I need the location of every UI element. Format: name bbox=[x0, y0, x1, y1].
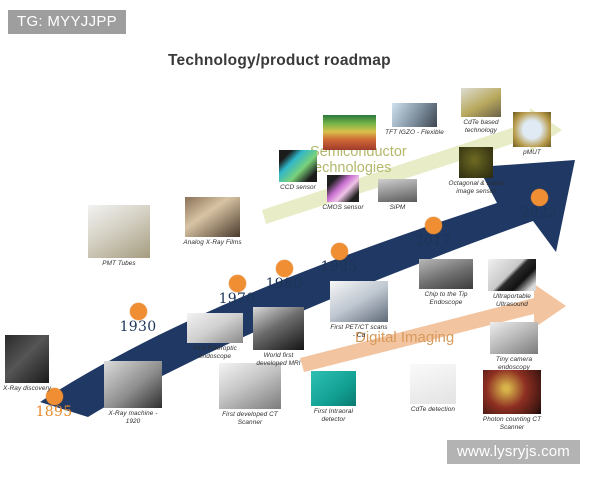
sipm-caption: SiPM bbox=[368, 204, 428, 212]
year-label: 1995 bbox=[311, 259, 367, 275]
year-dot-icon bbox=[531, 189, 548, 206]
watermark: www.lysryjs.com bbox=[447, 440, 580, 464]
year-label: 1895 bbox=[26, 404, 82, 420]
roadmap-item-chip-to-the-tip-endoscope: Chip to the Tip Endoscope bbox=[419, 259, 473, 307]
ultraportable-ultrasound-caption: Ultraportable Ultrasound bbox=[482, 293, 542, 309]
ccd-sensor-caption: CCD sensor bbox=[268, 184, 328, 192]
pmt-tubes-photo bbox=[88, 205, 150, 258]
first-intraoral-detector-photo bbox=[311, 371, 356, 406]
cdte-detection-photo bbox=[410, 364, 456, 404]
x-ray-discovery-caption: X-Ray discovery bbox=[0, 385, 57, 393]
roadmap-item-cdte-based-technology: CdTe based technology bbox=[461, 88, 501, 135]
analog-x-ray-films-photo bbox=[185, 197, 240, 237]
roadmap-item-x-ray-discovery: X-Ray discovery bbox=[5, 335, 49, 393]
world-first-developed-mri-photo bbox=[253, 307, 304, 350]
cmos-sensor-photo bbox=[327, 175, 359, 202]
pmt-tubes-caption: PMT Tubes bbox=[88, 260, 150, 268]
pmut-photo bbox=[513, 112, 551, 147]
tft-igzo-flexible-photo bbox=[392, 103, 437, 127]
first-developed-ct-scanner-photo bbox=[219, 363, 281, 409]
first-intraoral-detector-caption: First Intraoral detector bbox=[304, 408, 364, 424]
ccd-sensor-photo bbox=[279, 150, 317, 182]
analog-x-ray-films-caption: Analog X-Ray Films bbox=[183, 239, 243, 247]
roadmap-item-ccd-sensor: CCD sensor bbox=[279, 150, 317, 192]
cmos-sensor-caption: CMOS sensor bbox=[313, 204, 373, 212]
world-first-developed-mri-caption: World first developed MRI bbox=[249, 352, 309, 368]
roadmap-item-tiny-camera-endoscopy: Tiny camera endoscopy bbox=[490, 322, 538, 372]
ultraportable-ultrasound-photo bbox=[488, 259, 536, 291]
year-marker-1980: 1980 bbox=[256, 260, 312, 292]
roadmap-item-first-fiberoptic-endoscope: First Fiberoptic endoscope bbox=[187, 313, 243, 361]
year-marker-1930: 1930 bbox=[110, 303, 166, 335]
roadmap-item-multilayer-stack bbox=[323, 115, 376, 150]
roadmap-item-x-ray-machine-1920: X-Ray machine - 1920 bbox=[104, 361, 162, 426]
roadmap-item-analog-x-ray-films: Analog X-Ray Films bbox=[185, 197, 240, 247]
pmut-caption: pMUT bbox=[502, 149, 562, 157]
roadmap-item-pmt-tubes: PMT Tubes bbox=[88, 205, 150, 268]
x-ray-machine-1920-caption: X-Ray machine - 1920 bbox=[103, 410, 163, 426]
roadmap-item-ultraportable-ultrasound: Ultraportable Ultrasound bbox=[488, 259, 536, 309]
first-fiberoptic-endoscope-photo bbox=[187, 313, 243, 343]
roadmap-item-first-intraoral-detector: First Intraoral detector bbox=[311, 371, 356, 424]
roadmap-item-sipm: SiPM bbox=[378, 179, 417, 212]
roadmap-item-first-petct-scans-cd: First PET/CT scans - Cd bbox=[330, 281, 388, 340]
roadmap-item-octagonal-round-image-sensor: Octagonal & round image sensor bbox=[459, 147, 493, 196]
tiny-camera-endoscopy-photo bbox=[490, 322, 538, 354]
tg-tag: TG: MYYJJPP bbox=[8, 10, 126, 34]
year-dot-icon bbox=[229, 275, 246, 292]
cdte-based-technology-caption: CdTe based technology bbox=[451, 119, 511, 135]
multilayer-stack-photo bbox=[323, 115, 376, 150]
roadmap-item-cdte-detection: CdTe detection bbox=[410, 364, 456, 414]
octagonal-round-image-sensor-photo bbox=[459, 147, 493, 178]
photon-counting-ct-scanner-caption: Photon counting CT Scanner bbox=[482, 416, 542, 432]
octagonal-round-image-sensor-caption: Octagonal & round image sensor bbox=[446, 180, 506, 196]
roadmap-item-world-first-developed-mri: World first developed MRI bbox=[253, 307, 304, 368]
chip-to-the-tip-endoscope-caption: Chip to the Tip Endoscope bbox=[416, 291, 476, 307]
x-ray-discovery-photo bbox=[5, 335, 49, 383]
year-label: 1980 bbox=[256, 276, 312, 292]
year-dot-icon bbox=[130, 303, 147, 320]
roadmap-item-pmut: pMUT bbox=[513, 112, 551, 157]
year-label: 2017 bbox=[405, 233, 461, 249]
first-petct-scans-cd-photo bbox=[330, 281, 388, 322]
cdte-based-technology-photo bbox=[461, 88, 501, 117]
first-fiberoptic-endoscope-caption: First Fiberoptic endoscope bbox=[185, 345, 245, 361]
year-label: 1930 bbox=[110, 319, 166, 335]
year-dot-icon bbox=[276, 260, 293, 277]
first-petct-scans-cd-caption: First PET/CT scans - Cd bbox=[329, 324, 389, 340]
year-marker-2022: 2022 bbox=[511, 189, 567, 221]
roadmap-item-tft-igzo-flexible: TFT IGZO - Flexible bbox=[392, 103, 437, 137]
roadmap-canvas: Technology/product roadmap Semiconductor… bbox=[0, 0, 600, 480]
year-dot-icon bbox=[425, 217, 442, 234]
year-dot-icon bbox=[331, 243, 348, 260]
year-marker-1995: 1995 bbox=[311, 243, 367, 275]
semiconductor-label-line2: technologies bbox=[310, 160, 391, 176]
cdte-detection-caption: CdTe detection bbox=[403, 406, 463, 414]
roadmap-item-cmos-sensor: CMOS sensor bbox=[327, 175, 359, 212]
page-title: Technology/product roadmap bbox=[168, 52, 391, 70]
first-developed-ct-scanner-caption: First developed CT Scanner bbox=[219, 411, 281, 427]
x-ray-machine-1920-photo bbox=[104, 361, 162, 408]
roadmap-item-first-developed-ct-scanner: First developed CT Scanner bbox=[219, 363, 281, 427]
sipm-photo bbox=[378, 179, 417, 202]
photon-counting-ct-scanner-photo bbox=[483, 370, 541, 414]
year-label: 2022 bbox=[511, 205, 567, 221]
roadmap-item-photon-counting-ct-scanner: Photon counting CT Scanner bbox=[483, 370, 541, 432]
tft-igzo-flexible-caption: TFT IGZO - Flexible bbox=[385, 129, 445, 137]
year-marker-2017: 2017 bbox=[405, 217, 461, 249]
year-label: 1970 bbox=[209, 291, 265, 307]
chip-to-the-tip-endoscope-photo bbox=[419, 259, 473, 289]
